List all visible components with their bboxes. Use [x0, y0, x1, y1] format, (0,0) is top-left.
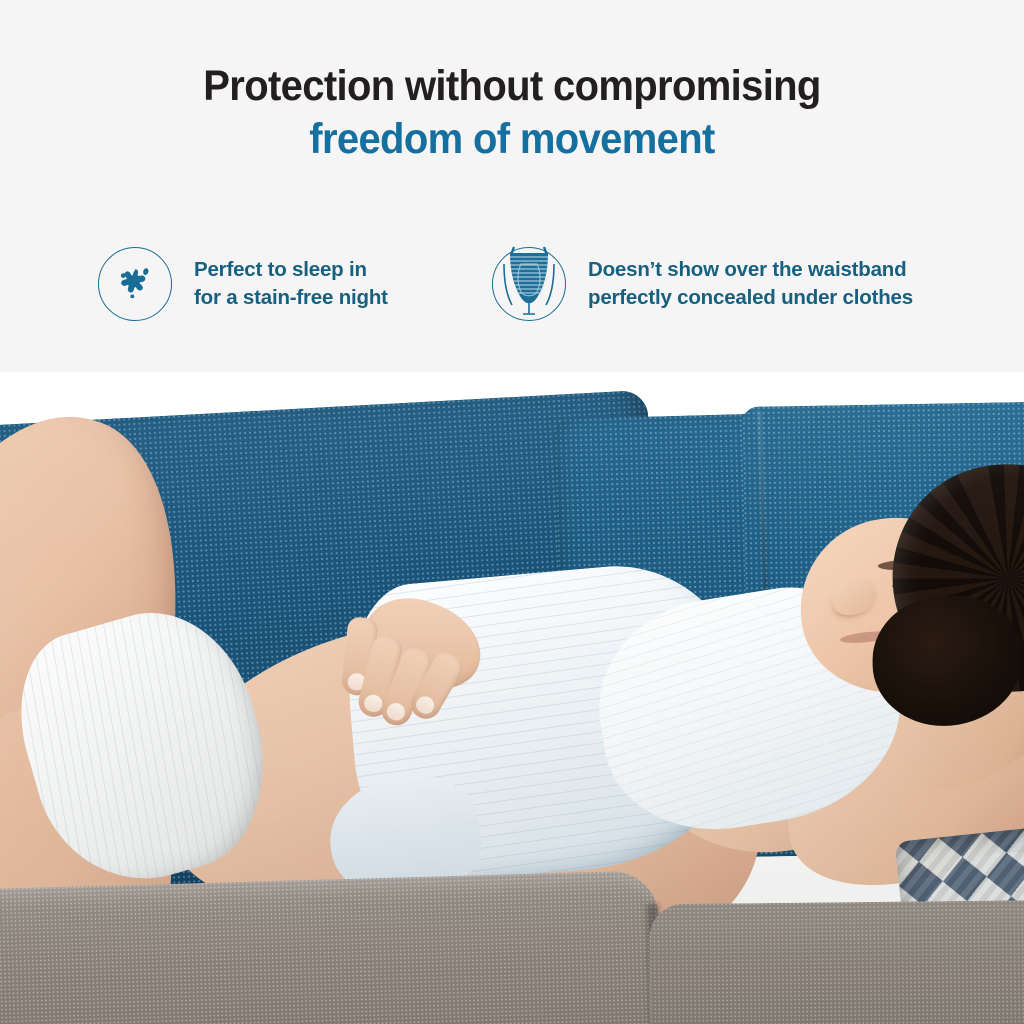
underwear-brief-icon — [492, 247, 566, 321]
feature-item-stain-free-label: Perfect to sleep in for a stain-free nig… — [194, 256, 388, 312]
feature-item-concealed: Doesn’t show over the waistband perfectl… — [492, 247, 913, 321]
promo-page: Protection without compromising freedom … — [0, 0, 1024, 1024]
feature-item-stain-free: Perfect to sleep in for a stain-free nig… — [98, 247, 388, 321]
lifestyle-photo — [0, 372, 1024, 1024]
sofa-seat-cushion-right — [649, 900, 1024, 1024]
fingernail — [413, 693, 437, 717]
sofa-seat-cushion-left — [0, 870, 662, 1024]
fingernail — [384, 700, 407, 723]
feature-1-line-2: for a stain-free night — [194, 284, 388, 312]
feature-1-line-1: Perfect to sleep in — [194, 256, 388, 284]
feature-2-line-2: perfectly concealed under clothes — [588, 284, 913, 312]
splash-stain-icon — [98, 247, 172, 321]
headline-line-2: freedom of movement — [36, 115, 988, 163]
page-title: Protection without compromising freedom … — [0, 62, 1024, 163]
feature-2-line-1: Doesn’t show over the waistband — [588, 256, 913, 284]
feature-list: Perfect to sleep in for a stain-free nig… — [0, 243, 1024, 353]
headline-line-1: Protection without compromising — [36, 62, 988, 110]
feature-item-concealed-label: Doesn’t show over the waistband perfectl… — [588, 256, 913, 312]
